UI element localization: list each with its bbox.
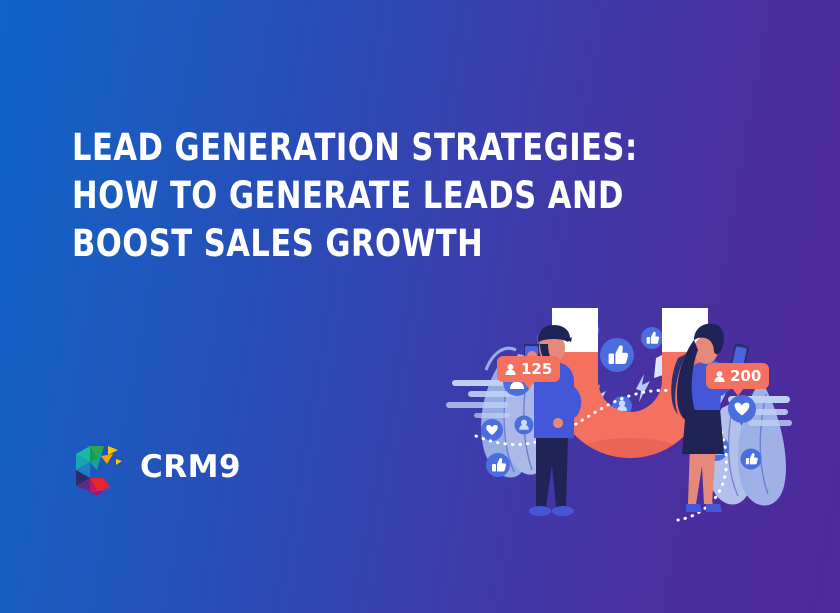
followers-count-left: 125 bbox=[521, 362, 552, 377]
headline-line-1: Lead Generation Strategies: bbox=[72, 124, 638, 172]
thumbs-up-icon bbox=[741, 449, 762, 470]
followers-badge-left: 125 bbox=[497, 356, 560, 382]
page-title: Lead Generation Strategies: How to Gener… bbox=[72, 124, 638, 268]
followers-count-right: 200 bbox=[730, 369, 761, 384]
person-icon bbox=[515, 416, 534, 435]
lead-generation-magnet-illustration bbox=[440, 258, 840, 528]
crm9-hexagon-c-mark-icon bbox=[72, 438, 128, 496]
thumbs-up-icon bbox=[486, 453, 510, 477]
crm9-logo[interactable]: CRM9 bbox=[72, 437, 242, 497]
person-icon bbox=[504, 363, 517, 376]
headline-line-2: How to Generate Leads and bbox=[72, 172, 638, 220]
banner-canvas: Lead Generation Strategies: How to Gener… bbox=[0, 0, 840, 613]
person-icon bbox=[713, 370, 726, 383]
followers-badge-right: 200 bbox=[706, 363, 769, 389]
thumbs-up-icon bbox=[600, 338, 634, 372]
crm9-wordmark: CRM9 bbox=[140, 452, 241, 483]
thumbs-up-icon bbox=[641, 327, 663, 349]
heart-icon bbox=[728, 395, 756, 423]
